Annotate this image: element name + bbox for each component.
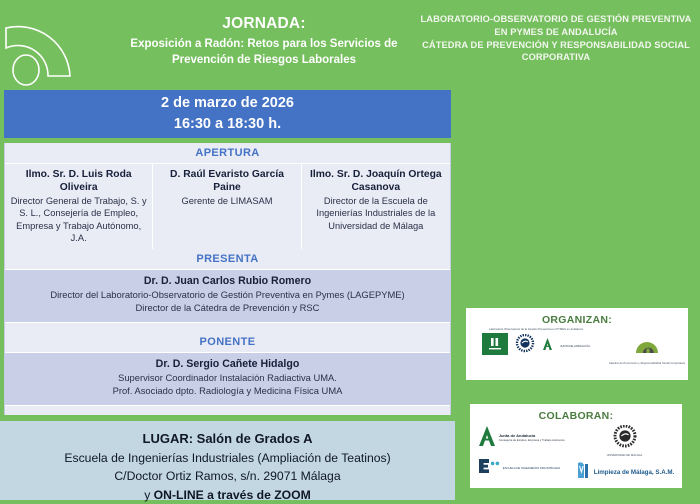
section-heading-apertura: APERTURA (5, 143, 450, 163)
organizan-title: ORGANIZAN: (466, 308, 688, 326)
radon-wave-logo (4, 8, 114, 88)
section-heading-ponente: PONENTE (5, 332, 450, 352)
speaker-role: Gerente de LIMASAM (158, 195, 295, 207)
organizan-card: ORGANIZAN: Laboratorio Observatorio de l… (466, 308, 688, 380)
colaboran-title: COLABORAN: (470, 404, 682, 422)
org-header-line-2: EN PYMES DE ANDALUCÍA (414, 26, 698, 39)
panel-divider (5, 322, 450, 332)
uma-seal-logo (482, 333, 508, 360)
page-title: JORNADA: (118, 14, 410, 33)
ponente-role-line-1: Supervisor Coordinador Instalación Radia… (11, 372, 444, 384)
speaker-card: Ilmo. Sr. D. Joaquín Ortega Casanova Dir… (302, 164, 450, 249)
junta-andalucia-caption: JUNTA DE ANDALUCÍA (560, 345, 590, 348)
presenter-role-line-2: Director de la Cátedra de Prevención y R… (11, 302, 444, 314)
limasam-caption: Limpieza de Málaga, S.A.M. (594, 469, 674, 476)
section-heading-presenta: PRESENTA (5, 249, 450, 269)
speaker-name: Ilmo. Sr. D. Joaquín Ortega Casanova (307, 168, 445, 194)
escuela-ingenierias-caption: ESCUELA DE INGENIERÍAS INDUSTRIALES (503, 467, 561, 470)
junta-andalucia-logo (478, 425, 496, 452)
panel-divider-bottom (5, 405, 450, 415)
uma-seal-logo (613, 436, 637, 453)
speaker-role: Director General de Trabajo, S. y S. L.,… (10, 195, 147, 243)
program-panel: APERTURA Ilmo. Sr. D. Luis Roda Oliveira… (4, 143, 451, 415)
org-header-line-4: CORPORATIVA (414, 51, 698, 64)
page-subtitle: Exposición a Radón: Retos para los Servi… (118, 37, 410, 68)
venue-line-1: LUGAR: Salón de Grados A (0, 429, 455, 449)
org-header-line-3: CÁTEDRA DE PREVENCIÓN Y RESPONSABILIDAD … (414, 39, 698, 52)
org-header-line-1: LABORATORIO-OBSERVATORIO DE GESTIÓN PREV… (414, 13, 698, 26)
junta-andalucia-logo (542, 337, 553, 356)
presenter-name: Dr. D. Juan Carlos Rubio Romero (11, 275, 444, 289)
poster-header: JORNADA: Exposición a Radón: Retos para … (0, 0, 700, 88)
ponente-name: Dr. D. Sergio Cañete Hidalgo (11, 358, 444, 372)
lagepyme-caption: Laboratorio Observatorio de la Gestión P… (466, 328, 606, 331)
venue-line-3: C/Doctor Ortiz Ramos, s/n. 29071 Málaga (0, 467, 455, 486)
presenta-card: Dr. D. Juan Carlos Rubio Romero Director… (5, 269, 450, 322)
venue-line-2: Escuela de Ingenierías Industriales (Amp… (0, 449, 455, 468)
venue-line-4-prefix: y (144, 488, 153, 502)
junta-andalucia-subcaption: Consejería de Empleo, Empresa y Trabajo … (499, 439, 565, 442)
venue-line-4: y ON-LINE a través de ZOOM (0, 486, 455, 504)
organizer-header-text: LABORATORIO-OBSERVATORIO DE GESTIÓN PREV… (414, 13, 698, 64)
speaker-card: Ilmo. Sr. D. Luis Roda Oliveira Director… (5, 164, 153, 249)
universidad-malaga-logo (515, 334, 535, 359)
speaker-card: D. Raúl Evaristo García Paine Gerente de… (153, 164, 301, 249)
catedra-logo-caption: Cátedra de Prevención y Responsabilidad … (606, 362, 688, 365)
venue-block: LUGAR: Salón de Grados A Escuela de Inge… (0, 421, 455, 500)
date-banner: 2 de marzo de 2026 16:30 a 18:30 h. (4, 90, 451, 138)
presenter-role-line-1: Director del Laboratorio-Observatorio de… (11, 289, 444, 301)
speaker-name: Ilmo. Sr. D. Luis Roda Oliveira (10, 168, 147, 194)
limasam-logo (575, 460, 591, 485)
catedra-prevencion-rsc-logo (632, 343, 662, 360)
event-date: 2 de marzo de 2026 (161, 93, 294, 114)
speaker-name: D. Raúl Evaristo García Paine (158, 168, 295, 194)
ponente-role-line-2: Prof. Asociado dpto. Radiología y Medici… (11, 385, 444, 397)
poster-root: JORNADA: Exposición a Radón: Retos para … (0, 0, 700, 500)
speaker-role: Director de la Escuela de Ingenierías In… (307, 195, 445, 231)
escuela-ingenierias-industriales-logo (478, 457, 500, 480)
uma-seal-caption: UNIVERSIDAD DE MÁLAGA (575, 454, 674, 457)
apertura-speakers-row: Ilmo. Sr. D. Luis Roda Oliveira Director… (5, 163, 450, 249)
colaboran-card: COLABORAN: Junta de Andalucía Consejería… (470, 404, 682, 488)
title-block: JORNADA: Exposición a Radón: Retos para … (118, 14, 410, 68)
venue-online-note: ON-LINE a través de ZOOM (154, 488, 311, 502)
event-time: 16:30 a 18:30 h. (174, 114, 281, 135)
ponente-card: Dr. D. Sergio Cañete Hidalgo Supervisor … (5, 352, 450, 405)
